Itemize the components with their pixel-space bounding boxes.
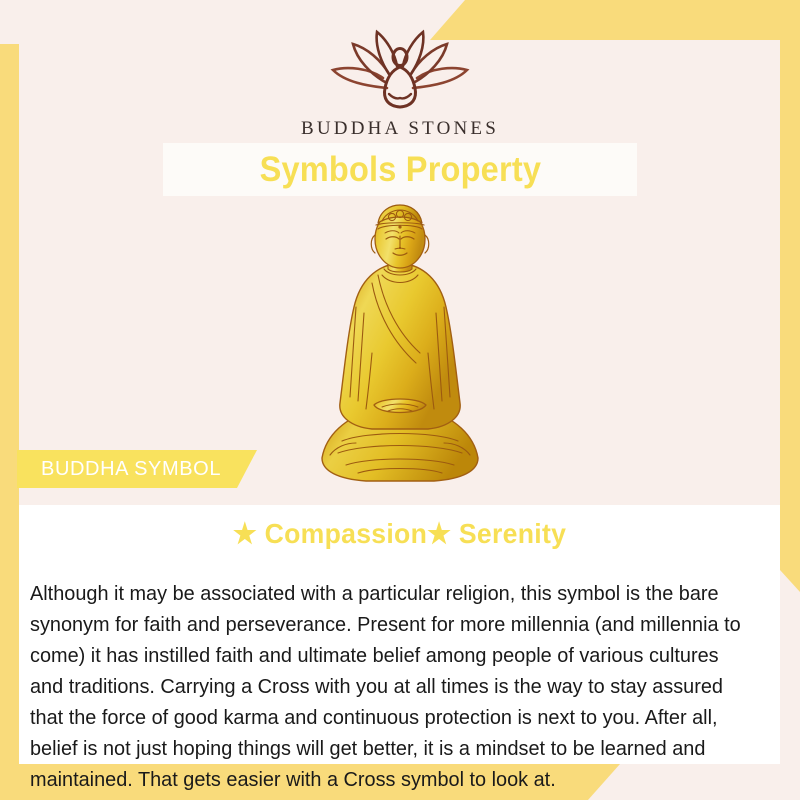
title-plaque: Symbols Property [163,143,637,196]
section-ribbon: BUDDHA SYMBOL [17,450,257,488]
content-paragraph: Although it may be associated with a par… [30,578,753,795]
brand-name: BUDDHA STONES [301,118,499,140]
buddha-illustration [312,203,488,493]
seated-buddha-icon [312,203,488,493]
page-title: Symbols Property [259,150,541,190]
left-accent-band [0,44,19,800]
content-headline: ★ Compassion★ Serenity [38,517,761,550]
symbols-property-poster: BUDDHA STONES Symbols Property [0,0,800,800]
lotus-meditation-logo-icon [329,26,471,114]
section-ribbon-label: BUDDHA SYMBOL [41,458,221,481]
content-panel: ★ Compassion★ Serenity Although it may b… [19,505,780,764]
brand-header: BUDDHA STONES [0,26,800,140]
